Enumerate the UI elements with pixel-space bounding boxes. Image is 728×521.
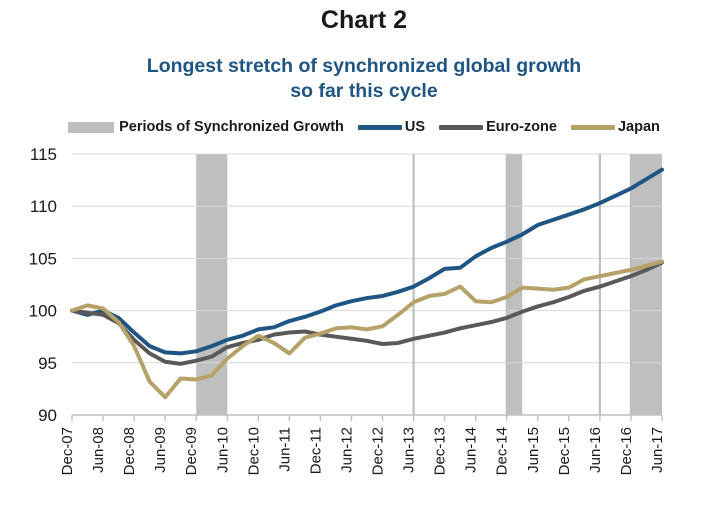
series-line-us: [72, 170, 662, 354]
x-axis-tick-label: Jun-14: [463, 427, 480, 473]
x-axis-tick-label: Dec-12: [370, 427, 387, 475]
y-axis-tick-label: 105: [29, 249, 57, 268]
line-chart-plot: 9095100105110115 Dec-07Jun-08Dec-08Jun-0…: [0, 0, 728, 521]
axis-layer: [72, 415, 662, 421]
x-axis-tick-label: Jun-11: [276, 427, 293, 472]
x-axis-tick-label: Jun-13: [401, 427, 418, 473]
series-line-japan: [72, 262, 662, 398]
x-axis-tick-label: Dec-10: [245, 427, 262, 475]
shaded-bands-layer: [196, 154, 662, 415]
y-axis-tick-label: 90: [38, 406, 57, 425]
x-axis-tick-label: Dec-08: [121, 427, 138, 475]
x-axis-tick-labels: Dec-07Jun-08Dec-08Jun-09Dec-09Jun-10Dec-…: [59, 427, 666, 475]
y-axis-tick-label: 100: [29, 302, 57, 321]
x-axis-tick-label: Jun-15: [525, 427, 542, 473]
x-axis-tick-label: Dec-16: [618, 427, 635, 475]
y-axis-tick-label: 110: [30, 197, 57, 216]
x-axis-tick-label: Dec-11: [307, 427, 324, 474]
x-axis-tick-label: Jun-10: [214, 427, 231, 473]
y-axis-tick-labels: 9095100105110115: [29, 145, 57, 425]
x-axis-tick-label: Dec-07: [59, 427, 76, 475]
x-axis-tick-label: Jun-08: [90, 427, 107, 473]
x-axis-tick-label: Jun-16: [587, 427, 604, 473]
x-axis-tick-label: Jun-12: [338, 427, 355, 473]
shaded-band: [507, 154, 523, 415]
chart-page: Chart 2 Longest stretch of synchronized …: [0, 0, 728, 521]
x-axis-tick-label: Dec-13: [432, 427, 449, 475]
y-axis-tick-label: 115: [30, 145, 57, 164]
x-axis-tick-label: Dec-15: [556, 427, 573, 475]
y-axis-tick-label: 95: [38, 354, 57, 373]
x-axis-tick-label: Jun-17: [649, 427, 666, 473]
shaded-band: [631, 154, 662, 415]
x-axis-tick-label: Dec-09: [183, 427, 200, 475]
x-axis-tick-label: Jun-09: [152, 427, 169, 473]
x-axis-tick-label: Dec-14: [494, 427, 511, 475]
